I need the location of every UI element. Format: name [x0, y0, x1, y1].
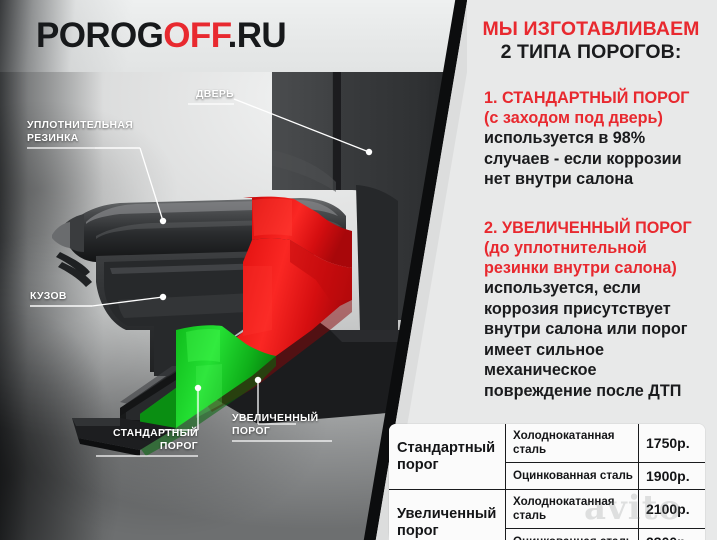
cell-material-standard-galv: Оцинкованная сталь	[506, 463, 639, 490]
logo-part-off: OFF	[163, 16, 227, 55]
block1-body-3: нет внутри салона	[484, 169, 717, 190]
label-body: КУЗОВ	[30, 291, 92, 304]
block1-subheading: (с заходом под дверь)	[484, 108, 717, 128]
label-door: ДВЕРЬ	[188, 89, 234, 102]
poster-canvas: ДВЕРЬ УПЛОТНИТЕЛЬНАЯ РЕЗИНКА КУЗОВ СТАНД…	[0, 0, 717, 540]
cell-material-enlarged-galv: Оцинкованная сталь	[506, 529, 639, 540]
cell-type-enlarged: Увеличенный порог	[389, 490, 506, 540]
table-row: Увеличенный порог Холоднокатанная сталь …	[389, 490, 705, 529]
title-line-2: 2 ТИПА ПОРОГОВ:	[467, 41, 715, 64]
block2-body-3: внутри салона или порог	[484, 319, 717, 340]
label-enlarged-line2: ПОРОГ	[232, 426, 270, 437]
block2-subheading-2: резинки внутри салона)	[484, 258, 717, 278]
block2-body-4: имеет сильное	[484, 340, 717, 361]
site-logo[interactable]: POROGOFF.RU	[36, 16, 286, 56]
info-block-enlarged: 2. УВЕЛИЧЕННЫЙ ПОРОГ (до уплотнительной …	[484, 218, 717, 401]
label-enlarged-line1: УВЕЛИЧЕННЫЙ	[232, 413, 318, 424]
cell-price-standard-galv: 1900р.	[639, 463, 706, 490]
block1-heading: 1. СТАНДАРТНЫЙ ПОРОГ	[484, 88, 717, 108]
block2-body-2: коррозия присутствует	[484, 299, 717, 320]
cell-price-standard-cold: 1750р.	[639, 424, 706, 463]
label-standard-sill: СТАНДАРТНЫЙ ПОРОГ	[96, 428, 198, 453]
block1-body-1: используется в 98%	[484, 128, 717, 149]
info-panel-title: МЫ ИЗГОТАВЛИВАЕМ 2 ТИПА ПОРОГОВ:	[467, 18, 715, 64]
label-standard-line1: СТАНДАРТНЫЙ	[113, 428, 198, 439]
label-seal-line2: РЕЗИНКА	[27, 133, 79, 144]
cell-material-enlarged-cold: Холоднокатанная сталь	[506, 490, 639, 529]
label-standard-line2: ПОРОГ	[160, 441, 198, 452]
label-door-text: ДВЕРЬ	[196, 89, 234, 100]
block1-body-2: случаев - если коррозии	[484, 149, 717, 170]
price-table-grid: Стандартный порог Холоднокатанная сталь …	[389, 424, 705, 540]
cell-price-enlarged-cold: 2100р.	[639, 490, 706, 529]
price-table: Стандартный порог Холоднокатанная сталь …	[389, 424, 705, 540]
table-row: Стандартный порог Холоднокатанная сталь …	[389, 424, 705, 463]
cell-price-enlarged-galv: 2300р.	[639, 529, 706, 540]
cell-material-standard-cold: Холоднокатанная сталь	[506, 424, 639, 463]
label-seal: УПЛОТНИТЕЛЬНАЯ РЕЗИНКА	[27, 120, 140, 145]
block2-body-1: используется, если	[484, 278, 717, 299]
block2-heading: 2. УВЕЛИЧЕННЫЙ ПОРОГ	[484, 218, 717, 238]
info-block-standard: 1. СТАНДАРТНЫЙ ПОРОГ (с заходом под двер…	[484, 88, 717, 190]
label-enlarged-sill: УВЕЛИЧЕННЫЙ ПОРОГ	[232, 413, 332, 438]
block2-body-5: механическое	[484, 360, 717, 381]
block2-subheading-1: (до уплотнительной	[484, 238, 717, 258]
label-seal-line1: УПЛОТНИТЕЛЬНАЯ	[27, 120, 133, 131]
block2-body-6: повреждение после ДТП	[484, 381, 717, 402]
label-body-text: КУЗОВ	[30, 291, 67, 302]
cell-type-standard: Стандартный порог	[389, 424, 506, 490]
title-line-1: МЫ ИЗГОТАВЛИВАЕМ	[467, 18, 715, 41]
logo-part-porog: POROG	[36, 16, 163, 55]
logo-part-ru: .RU	[228, 16, 286, 55]
